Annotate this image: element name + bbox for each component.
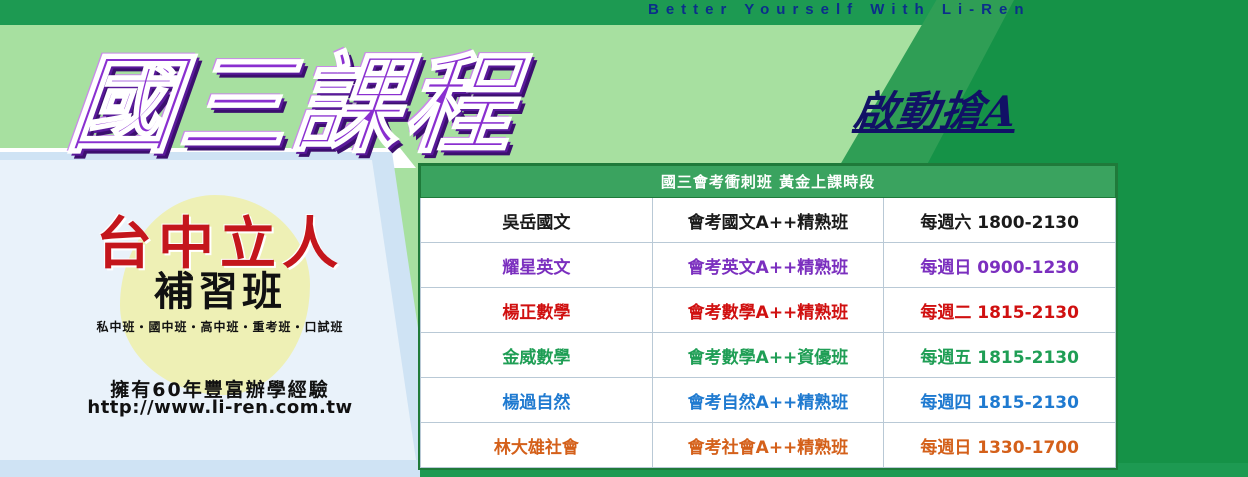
cell-course: 會考數學A++資優班 (652, 333, 884, 378)
cell-time: 每週日 0900-1230 (884, 243, 1116, 288)
brand-class-tags: 私中班・國中班・高中班・重考班・口試班 (40, 318, 400, 335)
cell-course: 會考國文A++精熟班 (652, 198, 884, 243)
cell-time: 每週二 1815-2130 (884, 288, 1116, 333)
brand-logo: 台中立人 補習班 私中班・國中班・高中班・重考班・口試班 (40, 215, 400, 335)
cell-time: 每週六 1800-2130 (884, 198, 1116, 243)
brand-name-sub: 補習班 (40, 270, 400, 314)
brand-name-main: 台中立人 (40, 215, 400, 274)
cell-teacher: 耀星英文 (421, 243, 653, 288)
schedule-table: 國三會考衝刺班 黃金上課時段 吳岳國文會考國文A++精熟班每週六 1800-21… (420, 165, 1116, 468)
table-header-title: 國三會考衝刺班 黃金上課時段 (421, 166, 1116, 198)
cell-teacher: 吳岳國文 (421, 198, 653, 243)
cell-course: 會考數學A++精熟班 (652, 288, 884, 333)
cell-course: 會考英文A++精熟班 (652, 243, 884, 288)
cell-time: 每週日 1330-1700 (884, 423, 1116, 468)
schedule-table-body: 吳岳國文會考國文A++精熟班每週六 1800-2130耀星英文會考英文A++精熟… (421, 198, 1116, 468)
cell-course: 會考自然A++精熟班 (652, 378, 884, 423)
website-url[interactable]: http://www.li-ren.com.tw (40, 397, 400, 418)
table-row: 林大雄社會會考社會A++精熟班每週日 1330-1700 (421, 423, 1116, 468)
table-row: 楊過自然會考自然A++精熟班每週四 1815-2130 (421, 378, 1116, 423)
table-row: 楊正數學會考數學A++精熟班每週二 1815-2130 (421, 288, 1116, 333)
cell-teacher: 楊正數學 (421, 288, 653, 333)
cell-teacher: 楊過自然 (421, 378, 653, 423)
cell-teacher: 林大雄社會 (421, 423, 653, 468)
table-header-row: 國三會考衝刺班 黃金上課時段 (421, 166, 1116, 198)
cell-course: 會考社會A++精熟班 (652, 423, 884, 468)
table-row: 金威數學會考數學A++資優班每週五 1815-2130 (421, 333, 1116, 378)
english-tagline: Better Yourself With Li-Ren (648, 1, 1031, 18)
cell-teacher: 金威數學 (421, 333, 653, 378)
page-title: 國三課程 (62, 18, 526, 174)
cell-time: 每週五 1815-2130 (884, 333, 1116, 378)
cell-time: 每週四 1815-2130 (884, 378, 1116, 423)
bottom-left-blue-band (0, 463, 420, 477)
schedule-table-container: 國三會考衝刺班 黃金上課時段 吳岳國文會考國文A++精熟班每週六 1800-21… (418, 163, 1118, 470)
table-row: 吳岳國文會考國文A++精熟班每週六 1800-2130 (421, 198, 1116, 243)
page-subtitle: 啟動搶A (851, 78, 1022, 139)
table-row: 耀星英文會考英文A++精熟班每週日 0900-1230 (421, 243, 1116, 288)
